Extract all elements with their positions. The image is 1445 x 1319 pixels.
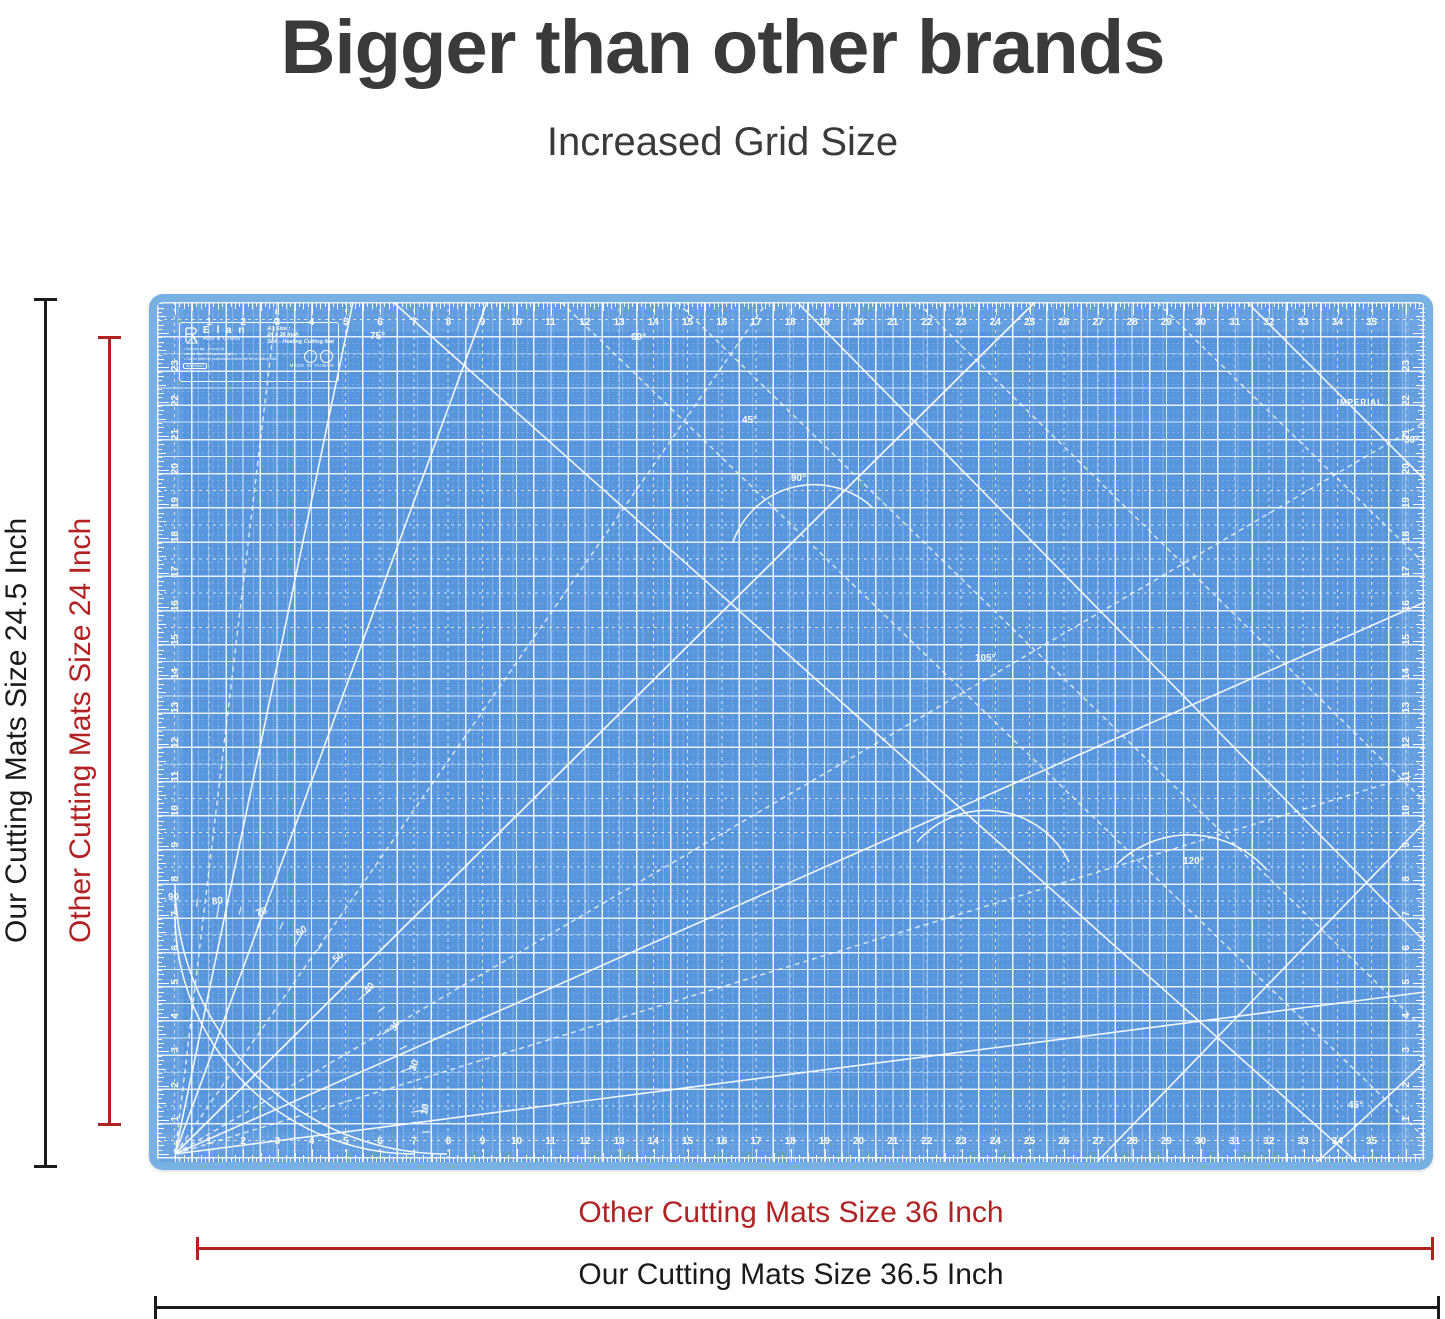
ruler-tick [906, 302, 907, 307]
ruler-tick [1420, 645, 1425, 646]
ruler-tick [1171, 302, 1172, 307]
ruler-tick [581, 302, 582, 307]
ruler-tick [1274, 1157, 1275, 1162]
ruler-tick [735, 1157, 736, 1162]
ruler-tick [1418, 1145, 1425, 1146]
ruler-tick [157, 410, 164, 411]
ruler-tick [1420, 423, 1425, 424]
ruler-tick [1418, 957, 1425, 958]
ruler-tick [761, 302, 762, 307]
ruler-tick [1034, 302, 1035, 307]
ruler-tick [157, 479, 164, 480]
ruler-tick [1312, 302, 1313, 309]
ruler-tick [414, 1149, 415, 1162]
ruler-tick [157, 355, 162, 356]
ruler-number: 1 [206, 1136, 212, 1147]
ruler-number: 29 [1161, 317, 1172, 328]
ruler-tick [157, 821, 164, 822]
ruler-tick [157, 1081, 162, 1082]
ruler-number: 20 [1401, 463, 1412, 474]
ruler-tick [1021, 1155, 1022, 1162]
ruler-tick [1248, 302, 1249, 307]
ruler-tick [1420, 782, 1425, 783]
ruler-tick [504, 1157, 505, 1162]
ruler-tick [157, 581, 164, 582]
ruler-tick [479, 1157, 480, 1162]
ruler-tick [863, 302, 864, 307]
ruler-tick [157, 838, 164, 839]
protractor-degree-label: 20 [407, 1059, 421, 1073]
ruler-tick [295, 1153, 296, 1162]
ruler-tick [1252, 302, 1253, 311]
ruler-tick [1244, 302, 1245, 309]
ruler-tick [889, 1157, 890, 1162]
ruler-tick [157, 791, 162, 792]
ruler-tick [157, 1047, 162, 1048]
ruler-tick [1420, 697, 1425, 698]
ruler-number: 2 [170, 1082, 181, 1088]
ruler-tick [269, 1155, 270, 1162]
ruler-tick [1416, 419, 1425, 420]
ruler-tick [744, 1157, 745, 1162]
ruler-tick [363, 1153, 364, 1162]
ruler-tick [1413, 915, 1425, 916]
ruler-number: 7 [170, 911, 181, 917]
ruler-tick [278, 302, 279, 315]
ruler-tick [521, 302, 522, 307]
ruler-tick [1077, 302, 1078, 307]
ruler-tick [252, 1155, 253, 1162]
ruler-tick [983, 302, 984, 307]
ruler-tick [1420, 1107, 1425, 1108]
ruler-tick [1128, 302, 1129, 307]
ruler-tick [449, 302, 450, 315]
ruler-tick [1265, 1157, 1266, 1162]
ruler-number: 14 [648, 317, 659, 328]
ruler-tick [799, 302, 800, 309]
ruler-tick [919, 1155, 920, 1162]
ruler-tick [1103, 302, 1104, 307]
ruler-tick [1329, 302, 1330, 309]
protractor-degree-label: 60 [294, 924, 309, 939]
ruler-tick [157, 1103, 166, 1104]
ruler-tick [157, 444, 164, 445]
ruler-tick [157, 936, 162, 937]
ruler-tick [269, 302, 270, 309]
ruler-tick [461, 302, 462, 307]
ruler-tick [987, 1155, 988, 1162]
ruler-number: 11 [545, 1136, 556, 1147]
ruler-tick [157, 748, 162, 749]
ruler-number: 20 [170, 463, 181, 474]
ruler-tick [1334, 302, 1335, 307]
ruler-tick [157, 556, 166, 557]
ruler-tick [590, 1157, 591, 1162]
ruler-tick [312, 1149, 313, 1162]
ruler-tick [1222, 1157, 1223, 1162]
ruler-tick [389, 302, 390, 309]
ruler-tick [427, 1157, 428, 1162]
ruler-tick [157, 1043, 164, 1044]
ruler-tick [1111, 1157, 1112, 1162]
ruler-tick [1416, 795, 1425, 796]
ruler-tick [748, 302, 749, 309]
ruler-tick [157, 1098, 162, 1099]
no-sun-icon [320, 350, 333, 363]
ruler-tick [1103, 1157, 1104, 1162]
ruler-tick [1420, 1064, 1425, 1065]
ruler-tick [290, 302, 291, 307]
ruler-tick [1030, 1149, 1031, 1162]
ruler-tick [157, 842, 162, 843]
ruler-tick [662, 1155, 663, 1162]
ruler-tick [1418, 838, 1425, 839]
ruler-tick [1418, 513, 1425, 514]
ruler-tick [1420, 337, 1425, 338]
ruler-number: 18 [1401, 531, 1412, 542]
ruler-tick [372, 1155, 373, 1162]
ruler-tick [1420, 970, 1425, 971]
ruler-tick [1372, 1149, 1373, 1162]
protractor-degree-label: 50 [330, 950, 346, 966]
ruler-tick [218, 302, 219, 309]
ruler-tick [966, 1157, 967, 1162]
ruler-tick [380, 1149, 381, 1162]
ruler-tick [1094, 1157, 1095, 1162]
ruler-tick [1420, 406, 1425, 407]
ruler-number: 19 [819, 317, 830, 328]
ruler-number: 33 [1298, 1136, 1309, 1147]
ruler-tick [157, 1034, 166, 1035]
ruler-tick [157, 932, 166, 933]
ruler-tick [157, 658, 166, 659]
ruler-tick [1413, 1086, 1425, 1087]
ruler-tick [564, 1157, 565, 1162]
ruler-tick [474, 1155, 475, 1162]
ruler-number: 26 [1058, 1136, 1069, 1147]
ruler-tick [157, 829, 166, 830]
ruler-tick [1413, 744, 1425, 745]
ruler-number: 17 [1401, 566, 1412, 577]
ruler-tick [769, 302, 770, 307]
ruler-tick [1039, 1155, 1040, 1162]
ruler-tick [1210, 302, 1211, 309]
ruler-left: 2322212019181716151413121110987654321 [157, 302, 183, 1162]
ruler-tick [1418, 427, 1425, 428]
ruler-tick [838, 1157, 839, 1162]
ruler-tick [1287, 1153, 1288, 1162]
ruler-tick [299, 1157, 300, 1162]
ruler-tick [821, 1157, 822, 1162]
ruler-tick [1107, 302, 1108, 309]
ruler-tick [654, 302, 655, 315]
ruler-tick [1295, 1155, 1296, 1162]
ruler-tick [701, 302, 702, 307]
ruler-tick [273, 1157, 274, 1162]
ruler-tick [1201, 1149, 1202, 1162]
ruler-tick [1420, 1013, 1425, 1014]
ruler-tick [1316, 302, 1317, 307]
ruler-tick [769, 1157, 770, 1162]
ruler-tick [1420, 893, 1425, 894]
ruler-tick [927, 1149, 928, 1162]
ruler-tick [457, 302, 458, 309]
ruler-tick [1359, 1157, 1360, 1162]
ruler-tick [992, 1157, 993, 1162]
ruler-tick [1120, 302, 1121, 307]
ruler-tick [808, 302, 809, 311]
ruler-tick [722, 1149, 723, 1162]
ruler-tick [1090, 302, 1091, 309]
ruler-tick [157, 1150, 162, 1151]
angle-label: 75° [370, 331, 385, 342]
ruler-tick [278, 1149, 279, 1162]
ruler-tick [1420, 303, 1425, 304]
ruler-tick [795, 302, 796, 307]
ruler-tick [1026, 302, 1027, 307]
ruler-tick [1214, 302, 1215, 307]
ruler-number: 6 [377, 317, 383, 328]
ruler-tick [157, 504, 169, 505]
ruler-tick [355, 302, 356, 309]
ruler-tick [312, 302, 313, 315]
ruler-tick [1393, 1157, 1394, 1162]
ruler-tick [157, 966, 166, 967]
ruler-number: 12 [579, 317, 590, 328]
ruler-tick [850, 302, 851, 309]
ruler-tick [157, 466, 162, 467]
ruler-tick [1000, 1157, 1001, 1162]
ruler-tick [157, 893, 162, 894]
ruler-tick [157, 992, 164, 993]
ruler-number: 35 [1366, 1136, 1377, 1147]
ruler-number: 27 [1092, 317, 1103, 328]
ruler-tick [1420, 868, 1425, 869]
ruler-tick [1291, 1157, 1292, 1162]
ruler-number: 15 [170, 634, 181, 645]
ruler-tick [1205, 1157, 1206, 1162]
page-subtitle: Increased Grid Size [0, 120, 1445, 165]
ruler-tick [863, 1157, 864, 1162]
ruler-tick [1413, 812, 1425, 813]
ruler-tick [932, 1157, 933, 1162]
ruler-tick [1420, 1090, 1425, 1091]
ruler-tick [1413, 402, 1425, 403]
ruler-tick [1418, 547, 1425, 548]
ruler-tick [1420, 808, 1425, 809]
ruler-tick [209, 302, 210, 315]
ruler-tick [1359, 302, 1360, 307]
ruler-tick [966, 302, 967, 307]
ruler-tick [1420, 1004, 1425, 1005]
ruler-tick [1418, 376, 1425, 377]
ruler-tick [157, 949, 169, 950]
ruler-tick [157, 765, 162, 766]
ruler-tick [265, 302, 266, 307]
our-width-caliper [154, 1306, 1440, 1309]
ruler-number: 3 [275, 1136, 281, 1147]
ruler-tick [568, 1153, 569, 1162]
ruler-tick [367, 1157, 368, 1162]
ruler-tick [1413, 846, 1425, 847]
ruler-tick [675, 302, 676, 307]
ruler-tick [1418, 479, 1425, 480]
ruler-tick [316, 1157, 317, 1162]
ruler-tick [1416, 385, 1425, 386]
ruler-number: 30 [1195, 317, 1206, 328]
ruler-tick [157, 402, 169, 403]
ruler-tick [157, 594, 162, 595]
ruler-tick [1420, 628, 1425, 629]
ruler-tick [1418, 393, 1425, 394]
ruler-tick [157, 538, 169, 539]
ruler-tick [157, 987, 162, 988]
ruler-tick [256, 1157, 257, 1162]
ruler-tick [885, 302, 886, 309]
ruler-number: 2 [240, 1136, 246, 1147]
other-height-caliper [108, 336, 111, 1126]
ruler-tick [1308, 302, 1309, 307]
ruler-tick [157, 1030, 162, 1031]
ruler-tick [157, 1021, 162, 1022]
ruler-tick [282, 302, 283, 307]
ruler-tick [1418, 872, 1425, 873]
ruler-tick [1167, 302, 1168, 315]
ruler-tick [868, 302, 869, 309]
ruler-tick [205, 1157, 206, 1162]
ruler-tick [1124, 1155, 1125, 1162]
ruler-tick [1420, 799, 1425, 800]
ruler-tick [157, 547, 164, 548]
ruler-tick [1420, 927, 1425, 928]
ruler-tick [1214, 1157, 1215, 1162]
ruler-tick [1376, 302, 1377, 307]
ruler-tick [1325, 1157, 1326, 1162]
ruler-tick [157, 560, 162, 561]
ruler-tick [1004, 1155, 1005, 1162]
ruler-tick [538, 302, 539, 307]
ruler-tick [157, 470, 169, 471]
ruler-number: 15 [682, 1136, 693, 1147]
ruler-tick [157, 363, 162, 364]
ruler-tick [603, 302, 604, 311]
ruler-tick [658, 1157, 659, 1162]
ruler-number: 8 [446, 317, 452, 328]
ruler-tick [222, 302, 223, 307]
ruler-tick [157, 850, 162, 851]
ruler-tick [611, 1155, 612, 1162]
ruler-tick [1416, 624, 1425, 625]
ruler-tick [157, 761, 166, 762]
ruler-tick [992, 302, 993, 307]
ruler-tick [555, 302, 556, 307]
ruler-tick [645, 1155, 646, 1162]
ruler-tick [791, 302, 792, 315]
ruler-tick [568, 302, 569, 311]
ruler-tick [157, 701, 164, 702]
ruler-tick [607, 302, 608, 307]
ruler-tick [157, 1000, 166, 1001]
ruler-tick [440, 1155, 441, 1162]
ruler-tick [157, 880, 169, 881]
ruler-tick [491, 302, 492, 309]
ruler-tick [1376, 1157, 1377, 1162]
ruler-tick [1346, 302, 1347, 309]
ruler-number: 33 [1298, 317, 1309, 328]
ruler-tick [1064, 1149, 1065, 1162]
ruler-tick [1418, 615, 1425, 616]
ruler-number: 32 [1263, 317, 1274, 328]
ruler-tick [855, 302, 856, 307]
ruler-tick [157, 367, 169, 368]
ruler-tick [1413, 504, 1425, 505]
ruler-tick [157, 414, 162, 415]
ruler-number: 6 [377, 1136, 383, 1147]
ruler-tick [1416, 829, 1425, 830]
ruler-tick [157, 1039, 162, 1040]
ruler-tick [346, 302, 347, 315]
ruler-tick [1420, 791, 1425, 792]
ruler-tick [1413, 778, 1425, 779]
ruler-number: 12 [579, 1136, 590, 1147]
ruler-tick [157, 372, 162, 373]
ruler-tick [337, 1155, 338, 1162]
ruler-tick [286, 302, 287, 309]
ruler-tick [1418, 735, 1425, 736]
ruler-tick [598, 302, 599, 307]
ruler-tick [213, 302, 214, 307]
ruler-tick [530, 302, 531, 307]
ruler-tick [410, 1157, 411, 1162]
ruler-tick [157, 684, 164, 685]
ruler-tick [248, 302, 249, 307]
ruler-tick [1218, 302, 1219, 311]
angle-label: 30° [1404, 435, 1419, 446]
ruler-tick [157, 423, 162, 424]
ruler-tick [483, 1149, 484, 1162]
ruler-tick [1163, 302, 1164, 307]
ruler-number: 20 [853, 1136, 864, 1147]
ruler-tick [1056, 302, 1057, 309]
ruler-tick [157, 953, 162, 954]
ruler-tick [205, 302, 206, 307]
ruler-tick [444, 1157, 445, 1162]
ruler-tick [679, 302, 680, 309]
ruler-tick [325, 1157, 326, 1162]
ruler-tick [157, 590, 166, 591]
ruler-number: 35 [1366, 317, 1377, 328]
ruler-tick [157, 637, 162, 638]
ruler-tick [157, 1090, 162, 1091]
ruler-tick [436, 302, 437, 307]
ruler-tick [1420, 1056, 1425, 1057]
ruler-tick [517, 302, 518, 315]
ruler-tick [261, 1153, 262, 1162]
ruler-tick [157, 940, 164, 941]
ruler-tick [461, 1157, 462, 1162]
ruler-tick [157, 534, 162, 535]
ruler-tick [157, 440, 162, 441]
ruler-tick [709, 1157, 710, 1162]
ruler-tick [1420, 919, 1425, 920]
ruler-tick [157, 859, 162, 860]
ruler-tick [970, 302, 971, 309]
ruler-tick [1175, 302, 1176, 309]
ruler-tick [243, 302, 244, 315]
ruler-number: 19 [819, 1136, 830, 1147]
ruler-tick [157, 927, 162, 928]
ruler-tick [1338, 1149, 1339, 1162]
